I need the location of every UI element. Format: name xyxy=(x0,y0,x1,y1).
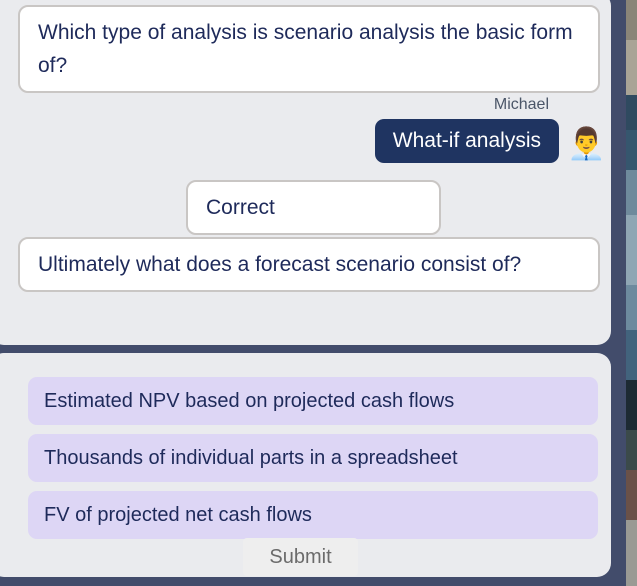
user-message-row: Michael What-if analysis 👨‍💼 xyxy=(0,96,611,176)
quiz-app-root: Which type of analysis is scenario analy… xyxy=(0,0,637,586)
submit-button[interactable]: Submit xyxy=(243,538,357,576)
user-message-text: What-if analysis xyxy=(393,129,541,152)
bot-message-bubble: Which type of analysis is scenario analy… xyxy=(18,5,600,93)
bot-message-text: Which type of analysis is scenario analy… xyxy=(38,21,573,77)
feedback-message-bubble: Correct xyxy=(186,180,441,235)
background-photo-edge xyxy=(626,0,637,586)
answer-option-chip[interactable]: Thousands of individual parts in a sprea… xyxy=(28,434,598,482)
bot-message-bubble: Ultimately what does a forecast scenario… xyxy=(18,237,600,292)
bot-message-text: Ultimately what does a forecast scenario… xyxy=(38,253,521,276)
user-message-bubble: What-if analysis xyxy=(375,119,559,163)
user-name-label: Michael xyxy=(494,96,549,114)
answer-option-chip[interactable]: FV of projected net cash flows xyxy=(28,491,598,539)
feedback-message-text: Correct xyxy=(206,196,275,219)
answer-options-list: Estimated NPV based on projected cash fl… xyxy=(28,377,598,548)
answer-options-panel: Estimated NPV based on projected cash fl… xyxy=(0,353,611,577)
chat-transcript-panel: Which type of analysis is scenario analy… xyxy=(0,0,611,345)
submit-row: Submit xyxy=(0,538,611,576)
answer-option-chip[interactable]: Estimated NPV based on projected cash fl… xyxy=(28,377,598,425)
businessman-avatar-icon: 👨‍💼 xyxy=(567,124,601,164)
